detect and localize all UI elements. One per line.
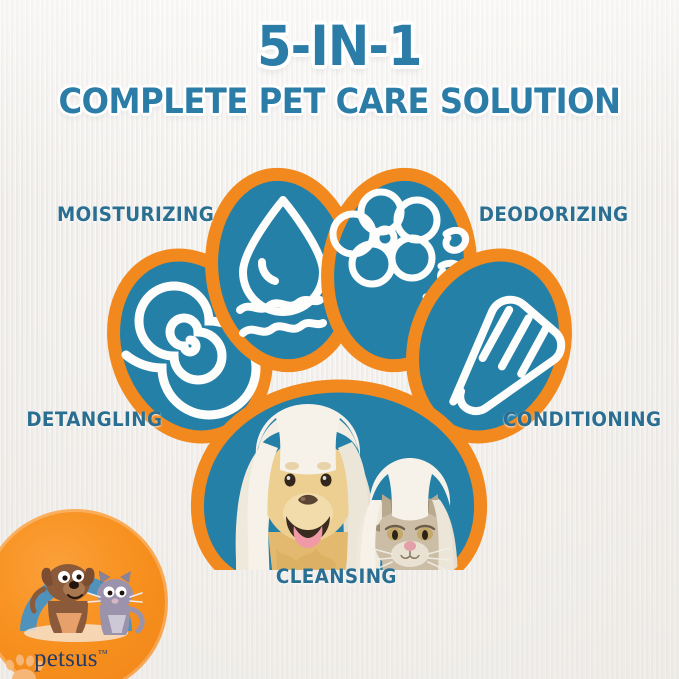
label-deodorizing: DEODORIZING	[479, 203, 629, 226]
label-cleansing: CLEANSING	[276, 565, 397, 588]
brand-logo-badge: petsus™	[0, 509, 168, 679]
trademark-symbol: ™	[98, 649, 108, 660]
headline-5-in-1: 5-IN-1	[257, 14, 421, 78]
main-pad-cleansing	[197, 386, 480, 570]
label-conditioning: CONDITIONING	[503, 408, 661, 431]
brand-name: petsus	[34, 645, 98, 672]
label-moisturizing: MOISTURIZING	[57, 203, 214, 226]
page-title: 5-IN-1 COMPLETE PET CARE SOLUTION	[0, 14, 679, 122]
label-detangling: DETANGLING	[26, 408, 162, 431]
brand-wordmark: petsus™	[34, 645, 108, 673]
headline-subtitle: COMPLETE PET CARE SOLUTION	[27, 82, 652, 122]
